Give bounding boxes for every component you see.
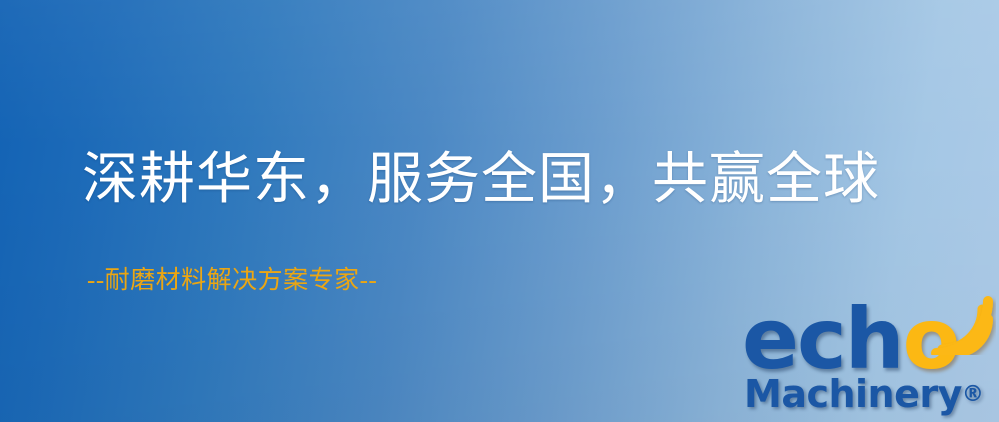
banner-subtitle: --耐磨材料解决方案专家-- xyxy=(87,268,377,293)
promotional-banner: 深耕华东，服务全国，共赢全球 --耐磨材料解决方案专家-- echo xyxy=(0,0,999,422)
signal-waves-icon xyxy=(928,293,996,355)
logo-tagline-text: Machinery xyxy=(744,372,962,416)
logo-wordmark: echo xyxy=(742,297,958,381)
registered-trademark-icon: ® xyxy=(962,382,984,407)
logo-tagline: Machinery® xyxy=(744,375,984,414)
echo-machinery-logo[interactable]: echo xyxy=(742,297,994,419)
banner-headline: 深耕华东，服务全国，共赢全球 xyxy=(82,152,880,208)
